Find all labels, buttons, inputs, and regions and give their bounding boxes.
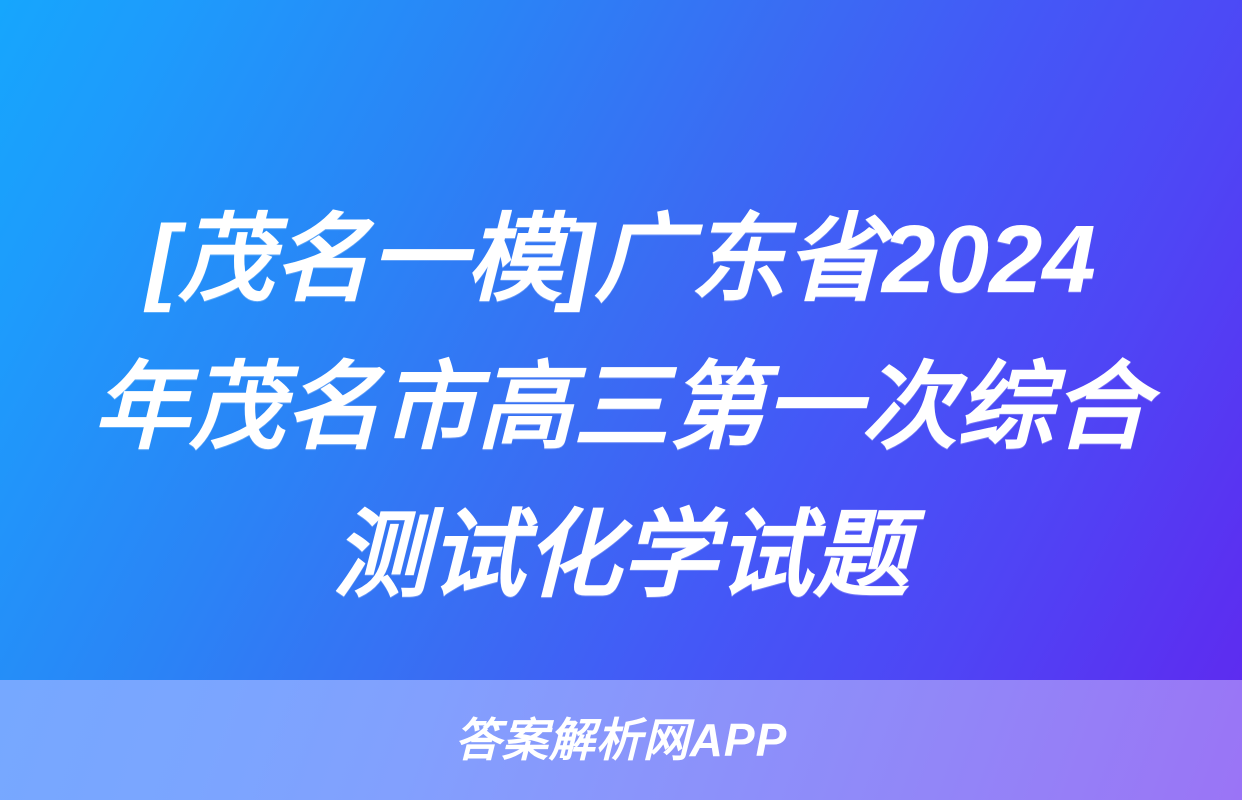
title-line-1: [茂名一模]广东省2024 [60,186,1182,334]
poster-banner: [茂名一模]广东省2024 年茂名市高三第一次综合 测试化学试题 答案解析网AP… [0,0,1242,800]
title-line-2: 年茂名市高三第一次综合 [60,334,1182,482]
title-line-3: 测试化学试题 [60,482,1182,630]
app-brand-label: 答案解析网APP [455,714,788,766]
page-title: [茂名一模]广东省2024 年茂名市高三第一次综合 测试化学试题 [0,186,1242,630]
footer-brand-band: 答案解析网APP [0,680,1242,800]
